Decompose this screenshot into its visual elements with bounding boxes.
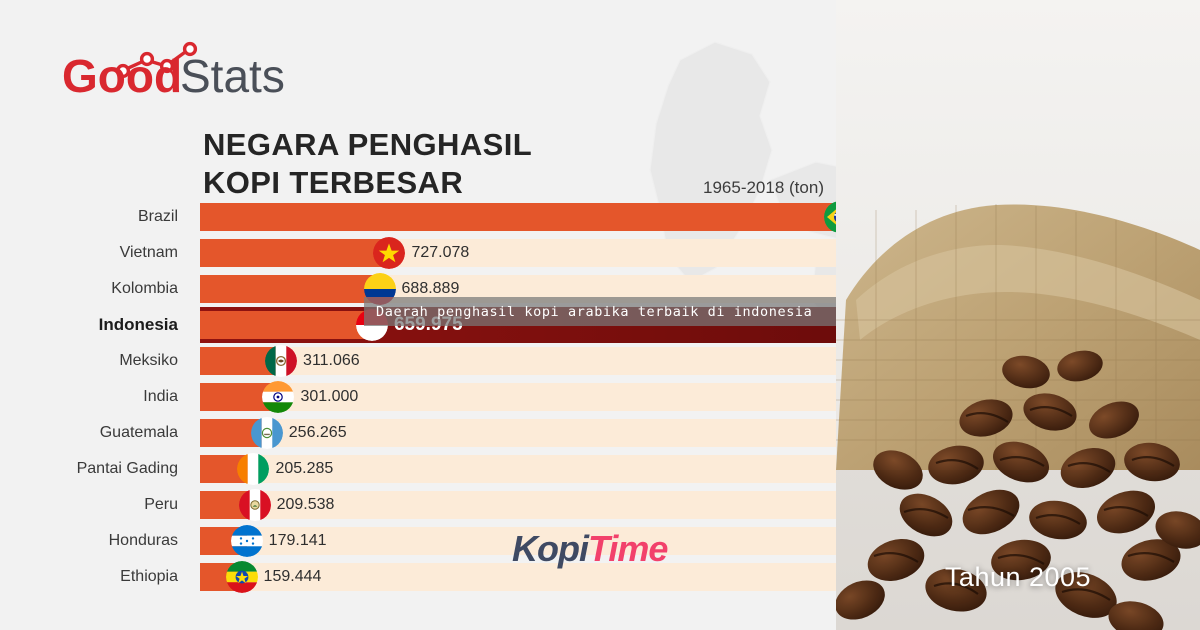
value-label: 311.066	[303, 347, 360, 375]
country-label: Guatemala	[0, 415, 190, 451]
country-label: Brazil	[0, 199, 190, 235]
goodstats-logo: Good Stats	[62, 38, 322, 100]
country-label: Honduras	[0, 523, 190, 559]
caption-text: Daerah penghasil kopi arabika terbaik di…	[364, 304, 812, 320]
table-row: Meksiko311.066	[0, 343, 860, 379]
value-label: 179.141	[269, 527, 327, 555]
value-label: 727.078	[411, 239, 469, 267]
table-row: Vietnam727.078	[0, 235, 860, 271]
bar	[200, 275, 380, 303]
flag-honduras-icon	[231, 525, 263, 557]
table-row: Ethiopia159.444	[0, 559, 860, 595]
country-label: Ethiopia	[0, 559, 190, 595]
bar	[200, 239, 389, 267]
country-label: Indonesia	[0, 307, 190, 343]
page-title: NEGARA PENGHASIL KOPI TERBESAR	[203, 126, 723, 202]
bar-chart: Brazil2.455.929Vietnam727.078Kolombia688…	[0, 199, 860, 599]
kopitime-part-time: Time	[588, 528, 667, 569]
country-label: Meksiko	[0, 343, 190, 379]
table-row: Honduras179.141	[0, 523, 860, 559]
table-row: Guatemala256.265	[0, 415, 860, 451]
country-label: Vietnam	[0, 235, 190, 271]
bar-track	[200, 383, 840, 411]
country-label: India	[0, 379, 190, 415]
value-label: 209.538	[277, 491, 335, 519]
kopitime-watermark: KopiTime	[512, 528, 667, 570]
infographic-canvas: Good Stats NEGARA PENGHASIL KOPI TERBESA…	[0, 0, 1200, 630]
bar	[200, 311, 372, 339]
caption-overlay: Daerah penghasil kopi arabika terbaik di…	[364, 297, 836, 326]
svg-text:Stats: Stats	[180, 50, 285, 100]
page-title-line-2: KOPI TERBESAR	[203, 164, 723, 202]
flag-peru-icon	[239, 489, 271, 521]
value-label: 301.000	[300, 383, 358, 411]
table-row: Brazil2.455.929	[0, 199, 860, 235]
flag-vietnam-icon	[373, 237, 405, 269]
flag-ethiopia-icon	[226, 561, 258, 593]
country-label: Pantai Gading	[0, 451, 190, 487]
table-row: India301.000	[0, 379, 860, 415]
flag-ivory-coast-icon	[237, 453, 269, 485]
bar	[200, 203, 840, 231]
country-label: Peru	[0, 487, 190, 523]
table-row: Pantai Gading205.285	[0, 451, 860, 487]
value-label: 205.285	[275, 455, 333, 483]
country-label: Kolombia	[0, 271, 190, 307]
value-label: 159.444	[264, 563, 322, 591]
flag-guatemala-icon	[251, 417, 283, 449]
kopitime-part-kopi: Kopi	[512, 528, 588, 569]
table-row: Peru209.538	[0, 487, 860, 523]
svg-text:Good: Good	[62, 50, 182, 100]
page-title-line-1: NEGARA PENGHASIL	[203, 126, 723, 164]
flag-mexico-icon	[265, 345, 297, 377]
value-label: 256.265	[289, 419, 347, 447]
flag-india-icon	[262, 381, 294, 413]
bar-track	[200, 203, 840, 231]
bar-track	[200, 239, 840, 267]
year-label: Tahun 2005	[836, 562, 1200, 593]
chart-subtitle: 1965-2018 (ton)	[703, 178, 824, 198]
coffee-beans-photo	[836, 0, 1200, 630]
